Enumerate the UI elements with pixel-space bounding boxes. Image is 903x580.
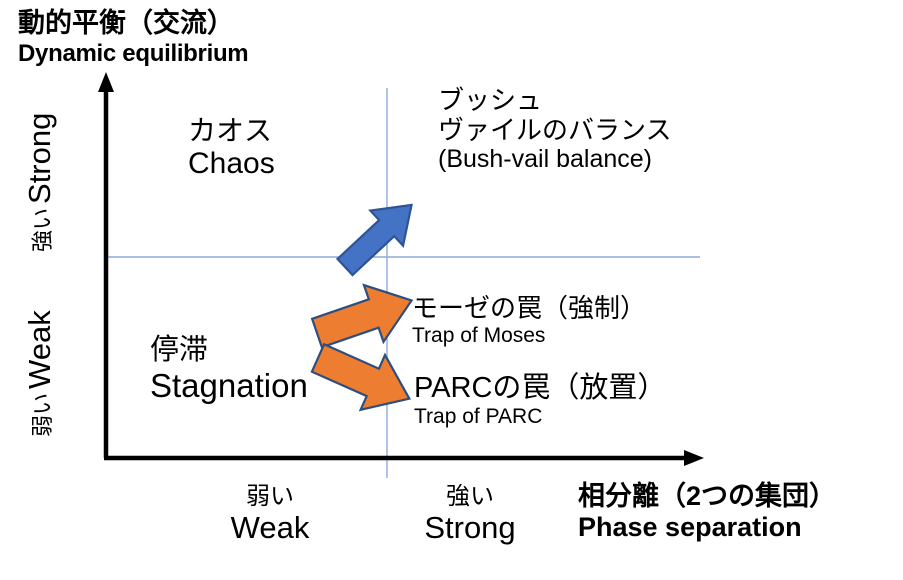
x-axis-tick-weak: 弱い Weak	[200, 484, 340, 546]
x-axis-title-en: Phase separation	[578, 512, 836, 543]
quadrant-label-bush-vail-jp-line1: ブッシュ	[438, 86, 671, 116]
orange-right-down-arrow	[306, 331, 422, 426]
quadrant-label-trap-of-parc: PARCの罠（放置） Trap of PARC	[414, 372, 666, 429]
quadrant-label-stagnation-en: Stagnation	[150, 367, 308, 405]
x-axis-tick-weak-jp: 弱い	[200, 484, 340, 511]
y-axis-tick-weak: 弱い Weak	[22, 310, 58, 437]
y-axis-tick-weak-en: Weak	[22, 310, 58, 389]
diagram-canvas: 動的平衡（交流） Dynamic equilibrium 相分離（2つの集団） …	[0, 0, 903, 580]
quadrant-label-trap-of-moses: モーゼの罠（強制） Trap of Moses	[412, 294, 646, 348]
quadrant-label-bush-vail-en: (Bush-vail balance)	[438, 145, 671, 174]
y-axis-tick-strong-jp: 強い	[25, 208, 57, 252]
y-axis-title-en: Dynamic equilibrium	[18, 40, 248, 68]
y-axis-title: 動的平衡（交流） Dynamic equilibrium	[18, 8, 248, 68]
quadrant-label-bush-vail-balance: ブッシュ ヴァイルのバランス (Bush-vail balance)	[438, 86, 671, 174]
x-axis-tick-weak-en: Weak	[200, 511, 340, 546]
quadrant-label-trap-of-parc-en: Trap of PARC	[414, 405, 666, 429]
quadrant-label-chaos: カオス Chaos	[188, 115, 275, 181]
quadrant-label-stagnation: 停滞 Stagnation	[150, 334, 308, 405]
blue-up-right-arrow	[329, 187, 428, 284]
x-axis-tick-strong: 強い Strong	[395, 484, 545, 546]
y-axis-tick-strong-en: Strong	[22, 113, 58, 204]
quadrant-label-trap-of-moses-jp: モーゼの罠（強制）	[412, 294, 646, 324]
x-axis-title-jp: 相分離（2つの集団）	[578, 481, 836, 512]
quadrant-label-chaos-jp: カオス	[188, 115, 275, 147]
quadrant-label-chaos-en: Chaos	[188, 147, 275, 181]
y-axis-tick-weak-jp: 弱い	[25, 393, 57, 437]
quadrant-label-bush-vail-jp-line2: ヴァイルのバランス	[438, 116, 671, 146]
y-axis-tick-strong: 強い Strong	[22, 113, 58, 252]
x-axis-title: 相分離（2つの集団） Phase separation	[578, 481, 836, 544]
x-axis-tick-strong-jp: 強い	[395, 484, 545, 511]
quadrant-label-stagnation-jp: 停滞	[150, 334, 308, 367]
quadrant-label-trap-of-parc-jp: PARCの罠（放置）	[414, 372, 666, 405]
x-axis-tick-strong-en: Strong	[395, 511, 545, 546]
quadrant-label-trap-of-moses-en: Trap of Moses	[412, 324, 646, 348]
y-axis-title-jp: 動的平衡（交流）	[18, 8, 248, 40]
